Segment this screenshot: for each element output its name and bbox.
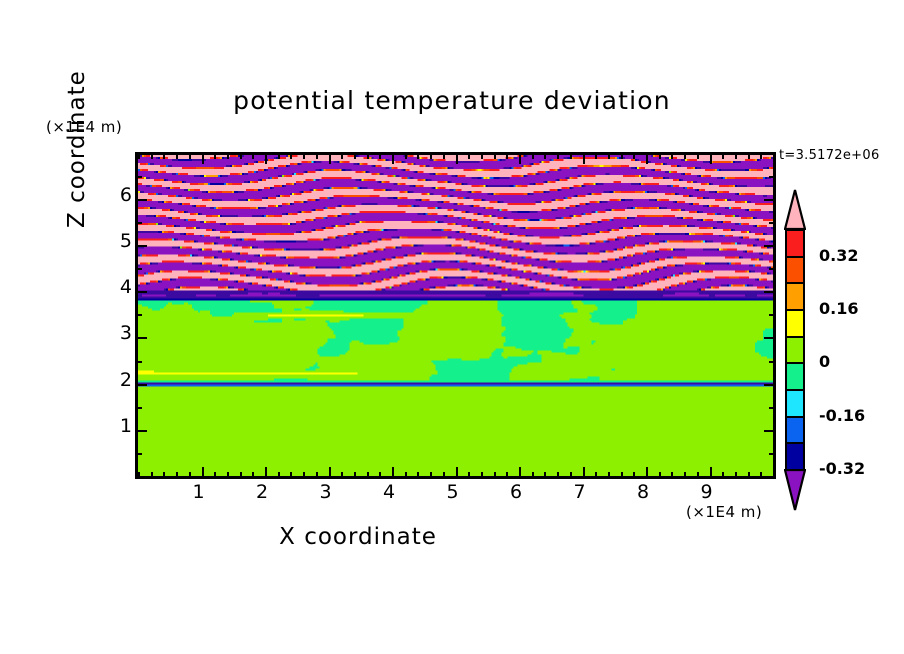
axis-tick (769, 453, 776, 455)
axis-tick (189, 472, 191, 479)
axis-tick (659, 472, 661, 479)
axis-tick (135, 176, 142, 178)
axis-tick (214, 472, 216, 479)
colorbar-band (785, 416, 805, 445)
axis-tick (764, 245, 776, 247)
axis-tick (367, 472, 369, 479)
axis-tick (202, 152, 204, 164)
axis-tick (176, 472, 178, 479)
y-tick-label: 4 (92, 276, 132, 298)
axis-tick (417, 152, 419, 159)
axis-tick (135, 268, 142, 270)
y-axis-title: Z coordinate (64, 70, 90, 228)
axis-tick (135, 222, 142, 224)
axis-tick (430, 472, 432, 479)
axis-tick (722, 472, 724, 479)
axis-tick (764, 430, 776, 432)
x-axis-title: X coordinate (0, 524, 716, 550)
axis-tick (764, 384, 776, 386)
axis-tick (135, 245, 147, 247)
axis-tick (633, 472, 635, 479)
axis-tick (633, 152, 635, 159)
axis-tick (506, 152, 508, 159)
axis-tick (135, 337, 147, 339)
axis-tick (570, 152, 572, 159)
x-axis-units-label: (×1E4 m) (686, 503, 762, 521)
y-tick-label: 2 (92, 369, 132, 391)
axis-tick (135, 430, 147, 432)
axis-tick (316, 472, 318, 479)
axis-tick (595, 152, 597, 159)
axis-tick (769, 222, 776, 224)
contour-plot-panel (135, 152, 776, 479)
axis-tick (176, 152, 178, 159)
axis-tick (138, 152, 140, 159)
axis-tick (583, 467, 585, 479)
axis-tick (595, 472, 597, 479)
y-tick-label: 6 (92, 184, 132, 206)
colorbar-tick-label: -0.32 (819, 459, 865, 478)
axis-tick (392, 467, 394, 479)
axis-tick (659, 152, 661, 159)
axis-tick (227, 152, 229, 159)
page-title: potential temperature deviation (0, 86, 904, 115)
axis-tick (773, 152, 775, 159)
axis-tick (303, 472, 305, 479)
axis-tick (519, 152, 521, 164)
axis-tick (760, 152, 762, 159)
colorbar-under-arrow (784, 469, 806, 511)
axis-tick (697, 152, 699, 159)
axis-tick (760, 472, 762, 479)
axis-tick (557, 472, 559, 479)
axis-tick (329, 152, 331, 164)
axis-tick (341, 152, 343, 159)
x-tick-label: 9 (687, 481, 727, 503)
axis-tick (341, 472, 343, 479)
axis-tick (135, 453, 142, 455)
axis-tick (240, 152, 242, 159)
x-tick-label: 1 (179, 481, 219, 503)
axis-tick (456, 467, 458, 479)
colorbar-band (785, 389, 805, 418)
axis-tick (494, 152, 496, 159)
axis-tick (227, 472, 229, 479)
axis-tick (443, 152, 445, 159)
y-tick-label: 1 (92, 415, 132, 437)
axis-tick (417, 472, 419, 479)
colorbar-tick-label: 0.32 (819, 246, 858, 265)
axis-tick (290, 152, 292, 159)
axis-tick (135, 476, 142, 478)
axis-tick (557, 152, 559, 159)
axis-tick (329, 467, 331, 479)
figure-root: potential temperature deviation (×1E4 m)… (0, 0, 904, 654)
axis-tick (456, 152, 458, 164)
axis-tick (748, 472, 750, 479)
colorbar-band (785, 229, 805, 258)
colorbar: 0.320.160-0.16-0.32 (785, 229, 805, 469)
axis-tick (608, 472, 610, 479)
axis-tick (265, 152, 267, 164)
axis-tick (135, 361, 142, 363)
axis-tick (468, 152, 470, 159)
axis-tick (621, 152, 623, 159)
x-tick-label: 5 (433, 481, 473, 503)
axis-tick (367, 152, 369, 159)
axis-tick (135, 199, 147, 201)
axis-tick (252, 152, 254, 159)
x-tick-label: 8 (623, 481, 663, 503)
axis-tick (481, 152, 483, 159)
colorbar-tick-label: 0 (819, 352, 830, 371)
axis-tick (135, 291, 147, 293)
axis-tick (265, 467, 267, 479)
colorbar-over-arrow (784, 189, 806, 229)
x-tick-label: 3 (306, 481, 346, 503)
axis-tick (769, 176, 776, 178)
axis-tick (710, 467, 712, 479)
axis-tick (646, 152, 648, 164)
colorbar-tick-label: -0.16 (819, 406, 865, 425)
axis-tick (748, 152, 750, 159)
axis-tick (290, 472, 292, 479)
y-tick-label: 5 (92, 230, 132, 252)
axis-tick (405, 152, 407, 159)
axis-tick (392, 152, 394, 164)
colorbar-band (785, 282, 805, 311)
axis-tick (303, 152, 305, 159)
axis-tick (379, 472, 381, 479)
axis-tick (671, 472, 673, 479)
axis-tick (240, 472, 242, 479)
axis-tick (764, 199, 776, 201)
colorbar-band (785, 309, 805, 338)
axis-tick (722, 152, 724, 159)
colorbar-band (785, 362, 805, 391)
x-tick-label: 2 (242, 481, 282, 503)
axis-tick (202, 467, 204, 479)
axis-tick (684, 152, 686, 159)
axis-tick (252, 472, 254, 479)
axis-tick (278, 152, 280, 159)
colorbar-band (785, 442, 805, 471)
contour-field (138, 155, 773, 476)
axis-tick (163, 152, 165, 159)
axis-tick (151, 152, 153, 159)
axis-tick (764, 291, 776, 293)
axis-tick (135, 407, 142, 409)
axis-tick (506, 472, 508, 479)
axis-tick (544, 152, 546, 159)
axis-tick (697, 472, 699, 479)
axis-tick (278, 472, 280, 479)
axis-tick (443, 472, 445, 479)
axis-tick (379, 152, 381, 159)
axis-tick (735, 152, 737, 159)
axis-tick (468, 472, 470, 479)
axis-tick (544, 472, 546, 479)
axis-tick (354, 472, 356, 479)
axis-tick (532, 472, 534, 479)
axis-tick (316, 152, 318, 159)
timestamp-label: t=3.5172e+06 (779, 148, 880, 163)
axis-tick (769, 407, 776, 409)
axis-tick (684, 472, 686, 479)
axis-tick (769, 361, 776, 363)
axis-tick (494, 472, 496, 479)
axis-tick (151, 472, 153, 479)
axis-tick (519, 467, 521, 479)
axis-tick (769, 314, 776, 316)
colorbar-band (785, 336, 805, 365)
axis-tick (621, 472, 623, 479)
axis-tick (764, 337, 776, 339)
x-tick-label: 6 (496, 481, 536, 503)
contour-canvas (138, 155, 773, 476)
axis-tick (646, 467, 648, 479)
axis-tick (769, 268, 776, 270)
x-tick-label: 7 (560, 481, 600, 503)
axis-tick (135, 384, 147, 386)
axis-tick (608, 152, 610, 159)
axis-tick (135, 314, 142, 316)
colorbar-tick-label: 0.16 (819, 299, 858, 318)
y-tick-label: 3 (92, 322, 132, 344)
axis-tick (405, 472, 407, 479)
axis-tick (769, 476, 776, 478)
x-tick-label: 4 (369, 481, 409, 503)
axis-tick (671, 152, 673, 159)
axis-tick (570, 472, 572, 479)
axis-tick (214, 152, 216, 159)
axis-tick (354, 152, 356, 159)
axis-tick (163, 472, 165, 479)
axis-tick (189, 152, 191, 159)
axis-tick (735, 472, 737, 479)
axis-tick (710, 152, 712, 164)
axis-tick (583, 152, 585, 164)
colorbar-band (785, 256, 805, 285)
axis-tick (481, 472, 483, 479)
axis-tick (430, 152, 432, 159)
axis-tick (532, 152, 534, 159)
